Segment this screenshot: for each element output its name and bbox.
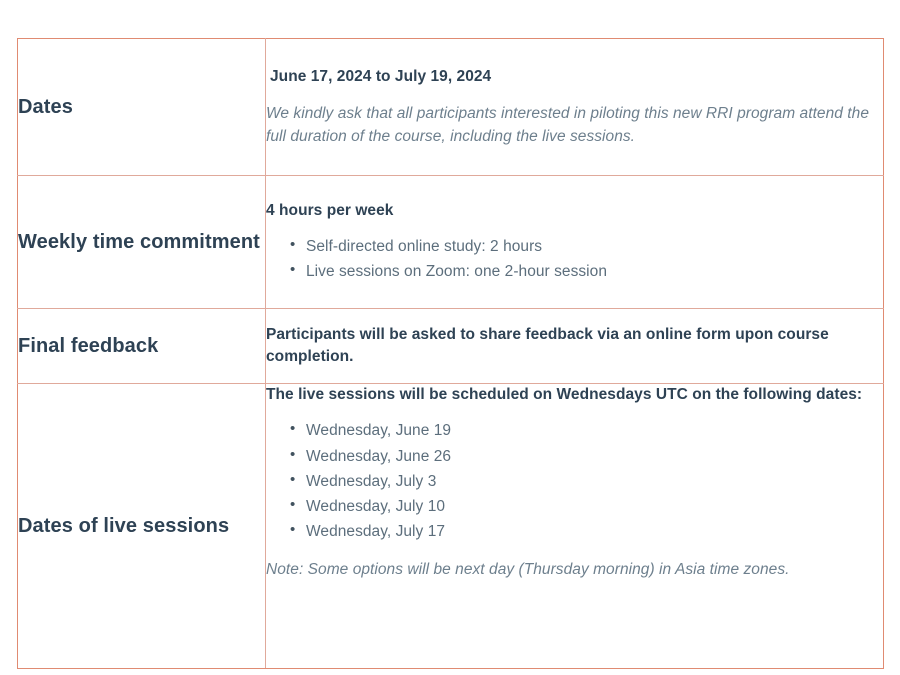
live-sessions-intro-text: The live sessions will be scheduled on W… bbox=[266, 384, 883, 406]
row-label-weekly-time: Weekly time commitment bbox=[18, 176, 266, 309]
row-final-feedback: Final feedback Participants will be aske… bbox=[18, 309, 884, 384]
weekly-hours-text: 4 hours per week bbox=[266, 200, 883, 222]
row-label-final-feedback: Final feedback bbox=[18, 309, 266, 384]
final-feedback-text: Participants will be asked to share feed… bbox=[266, 324, 883, 369]
weekly-time-bullet-list: Self-directed online study: 2 hours Live… bbox=[266, 234, 883, 284]
list-item: Wednesday, July 3 bbox=[290, 469, 883, 494]
row-content-live-sessions: The live sessions will be scheduled on W… bbox=[266, 384, 884, 669]
dates-note-text: We kindly ask that all participants inte… bbox=[266, 102, 883, 149]
live-sessions-bullet-list: Wednesday, June 19 Wednesday, June 26 We… bbox=[266, 418, 883, 544]
row-weekly-time: Weekly time commitment 4 hours per week … bbox=[18, 176, 884, 309]
list-item: Wednesday, June 19 bbox=[290, 418, 883, 443]
live-sessions-note-text: Note: Some options will be next day (Thu… bbox=[266, 558, 883, 581]
list-item: Wednesday, July 17 bbox=[290, 519, 883, 544]
row-dates: Dates June 17, 2024 to July 19, 2024 We … bbox=[18, 39, 884, 176]
row-content-dates: June 17, 2024 to July 19, 2024 We kindly… bbox=[266, 39, 884, 176]
row-content-weekly-time: 4 hours per week Self-directed online st… bbox=[266, 176, 884, 309]
table-body: Dates June 17, 2024 to July 19, 2024 We … bbox=[18, 39, 884, 669]
row-label-live-sessions: Dates of live sessions bbox=[18, 384, 266, 669]
list-item: Self-directed online study: 2 hours bbox=[290, 234, 883, 259]
list-item: Wednesday, June 26 bbox=[290, 444, 883, 469]
list-item: Live sessions on Zoom: one 2-hour sessio… bbox=[290, 259, 883, 284]
course-details-table: Dates June 17, 2024 to July 19, 2024 We … bbox=[17, 38, 884, 669]
dates-range-text: June 17, 2024 to July 19, 2024 bbox=[266, 66, 883, 88]
page-root: Dates June 17, 2024 to July 19, 2024 We … bbox=[0, 0, 900, 675]
row-live-sessions: Dates of live sessions The live sessions… bbox=[18, 384, 884, 669]
row-content-final-feedback: Participants will be asked to share feed… bbox=[266, 309, 884, 384]
row-label-dates: Dates bbox=[18, 39, 266, 176]
list-item: Wednesday, July 10 bbox=[290, 494, 883, 519]
